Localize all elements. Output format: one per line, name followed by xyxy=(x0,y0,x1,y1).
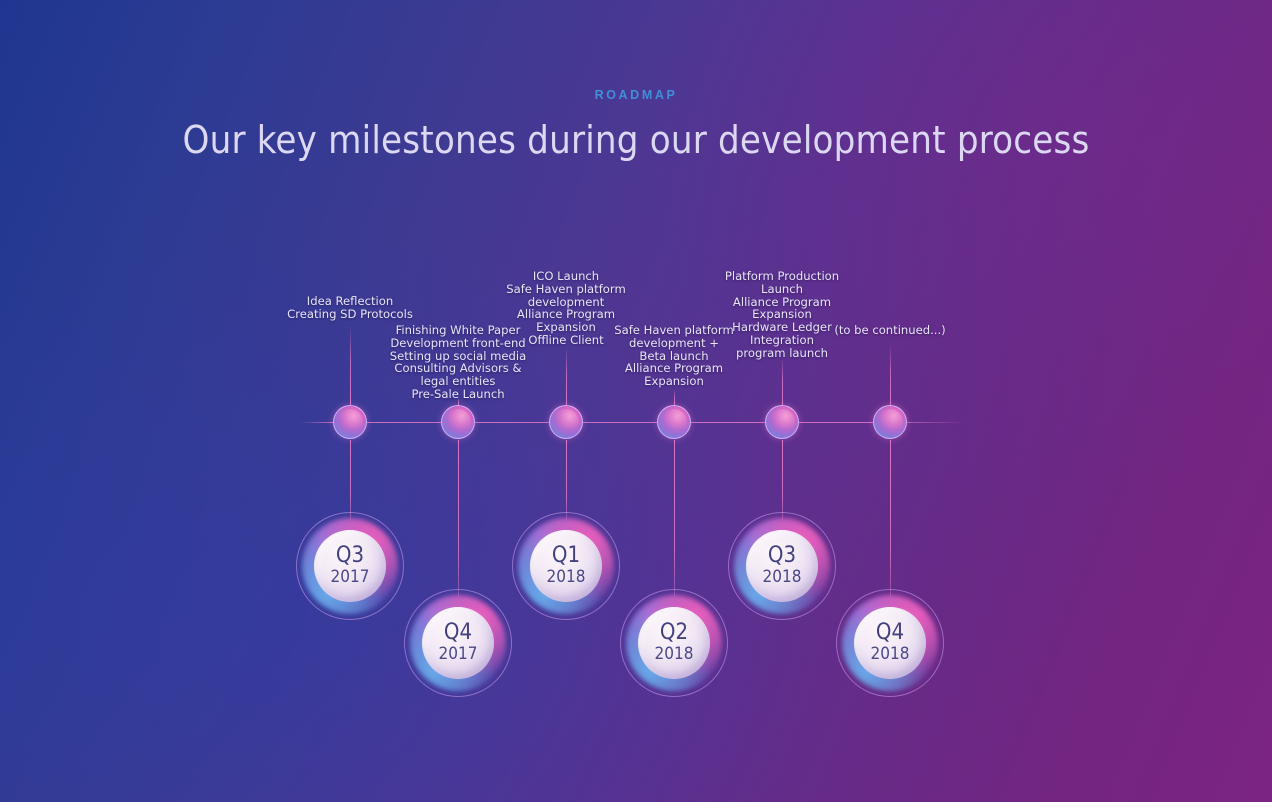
bubble-year-5: 2018 xyxy=(871,644,910,664)
bubble-year-0: 2017 xyxy=(331,567,370,587)
milestone-stem-down-5 xyxy=(890,440,891,597)
milestone-stem-up-0 xyxy=(350,325,351,405)
bubble-core-0: Q3 2017 xyxy=(314,530,386,602)
bubble-quarter-0: Q3 xyxy=(336,545,364,567)
bubble-core-5: Q4 2018 xyxy=(854,607,926,679)
milestone-stem-down-3 xyxy=(674,440,675,597)
milestone-node-3[interactable] xyxy=(657,405,691,439)
bubble-core-3: Q2 2018 xyxy=(638,607,710,679)
milestone-bubble-5[interactable]: Q4 2018 xyxy=(836,589,944,697)
milestone-node-2[interactable] xyxy=(549,405,583,439)
milestone-caption-0: Idea Reflection Creating SD Protocols xyxy=(287,295,413,321)
bubble-year-2: 2018 xyxy=(547,567,586,587)
milestone-bubble-3[interactable]: Q2 2018 xyxy=(620,589,728,697)
milestone-stem-down-0 xyxy=(350,440,351,520)
roadmap-timeline: Idea Reflection Creating SD Protocols Q3… xyxy=(0,0,1272,802)
bubble-quarter-3: Q2 xyxy=(660,622,688,644)
milestone-bubble-4[interactable]: Q3 2018 xyxy=(728,512,836,620)
milestone-stem-up-4 xyxy=(782,358,783,406)
milestone-node-4[interactable] xyxy=(765,405,799,439)
timeline-axis-line xyxy=(300,422,965,423)
milestone-bubble-1[interactable]: Q4 2017 xyxy=(404,589,512,697)
milestone-bubble-2[interactable]: Q1 2018 xyxy=(512,512,620,620)
milestone-stem-down-2 xyxy=(566,440,567,520)
bubble-quarter-2: Q1 xyxy=(552,545,580,567)
bubble-core-4: Q3 2018 xyxy=(746,530,818,602)
milestone-stem-down-1 xyxy=(458,440,459,597)
milestone-node-0[interactable] xyxy=(333,405,367,439)
bubble-quarter-4: Q3 xyxy=(768,545,796,567)
milestone-bubble-0[interactable]: Q3 2017 xyxy=(296,512,404,620)
milestone-node-5[interactable] xyxy=(873,405,907,439)
milestone-stem-up-5 xyxy=(890,344,891,406)
bubble-core-2: Q1 2018 xyxy=(530,530,602,602)
milestone-caption-3: Safe Haven platform development + Beta l… xyxy=(614,324,733,388)
milestone-caption-2: ICO Launch Safe Haven platform developme… xyxy=(506,270,625,347)
bubble-year-1: 2017 xyxy=(439,644,478,664)
milestone-stem-up-2 xyxy=(566,346,567,406)
bubble-year-3: 2018 xyxy=(655,644,694,664)
bubble-core-1: Q4 2017 xyxy=(422,607,494,679)
milestone-caption-4: Platform Production Launch Alliance Prog… xyxy=(725,270,839,360)
milestone-stem-down-4 xyxy=(782,440,783,520)
bubble-quarter-5: Q4 xyxy=(876,622,904,644)
bubble-year-4: 2018 xyxy=(763,567,802,587)
milestone-stem-up-3 xyxy=(674,390,675,406)
milestone-caption-5: (to be continued...) xyxy=(834,324,945,337)
bubble-quarter-1: Q4 xyxy=(444,622,472,644)
milestone-node-1[interactable] xyxy=(441,405,475,439)
